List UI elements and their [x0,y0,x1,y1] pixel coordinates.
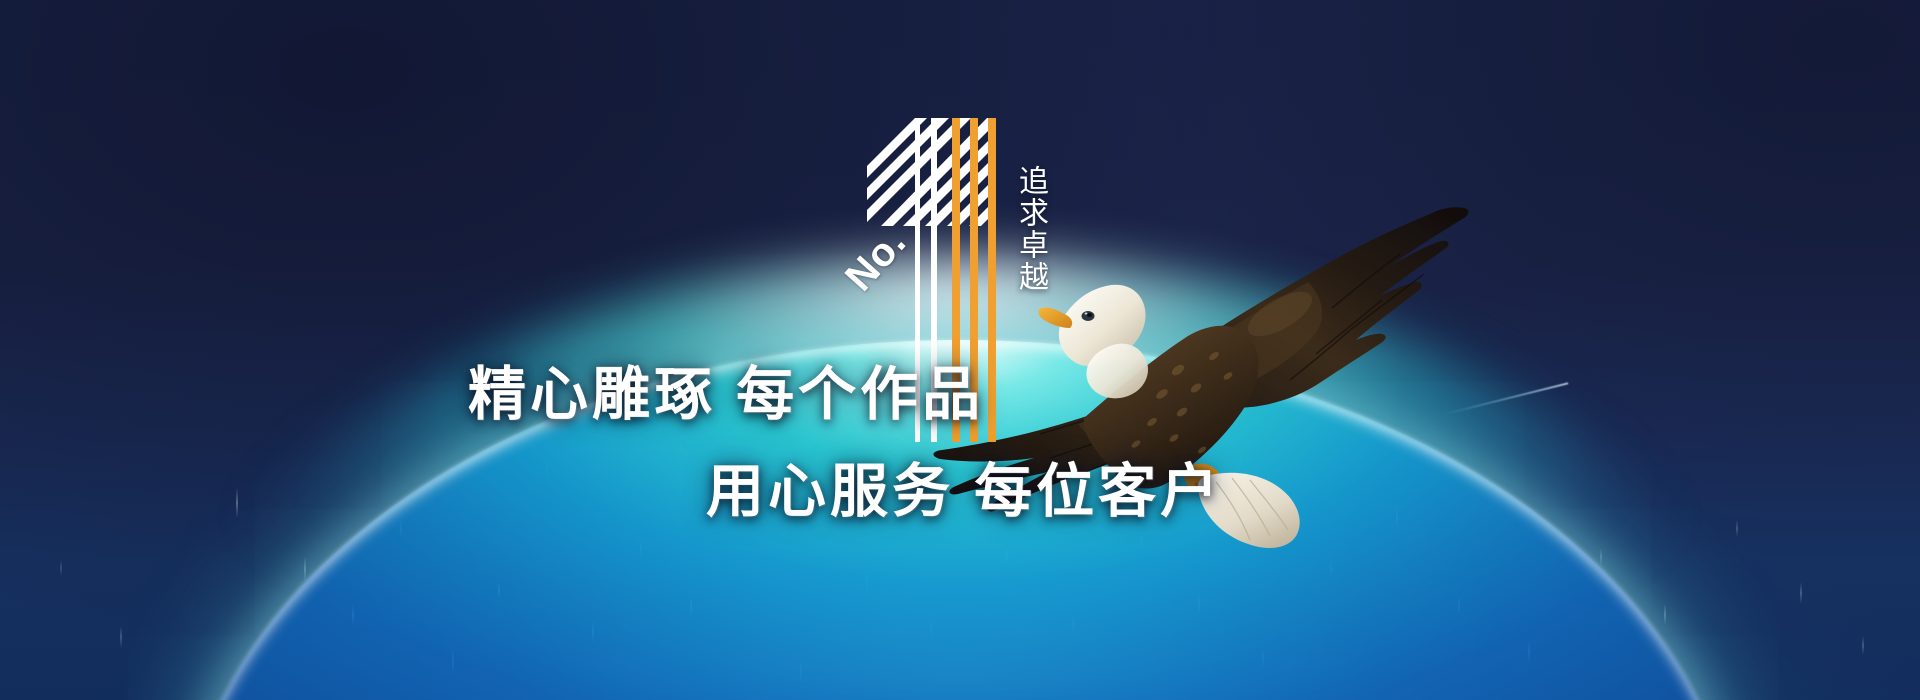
headline-block: 精心雕琢 每个作品 用心服务 每位客户 [0,366,1160,521]
vertical-slogan: 追求卓越 [1000,165,1054,293]
headline-line-2: 用心服务 每位客户 [0,463,1160,521]
headline-line-1: 精心雕琢 每个作品 [0,366,1160,424]
hero-banner: No. 追求卓越 [0,0,1920,700]
